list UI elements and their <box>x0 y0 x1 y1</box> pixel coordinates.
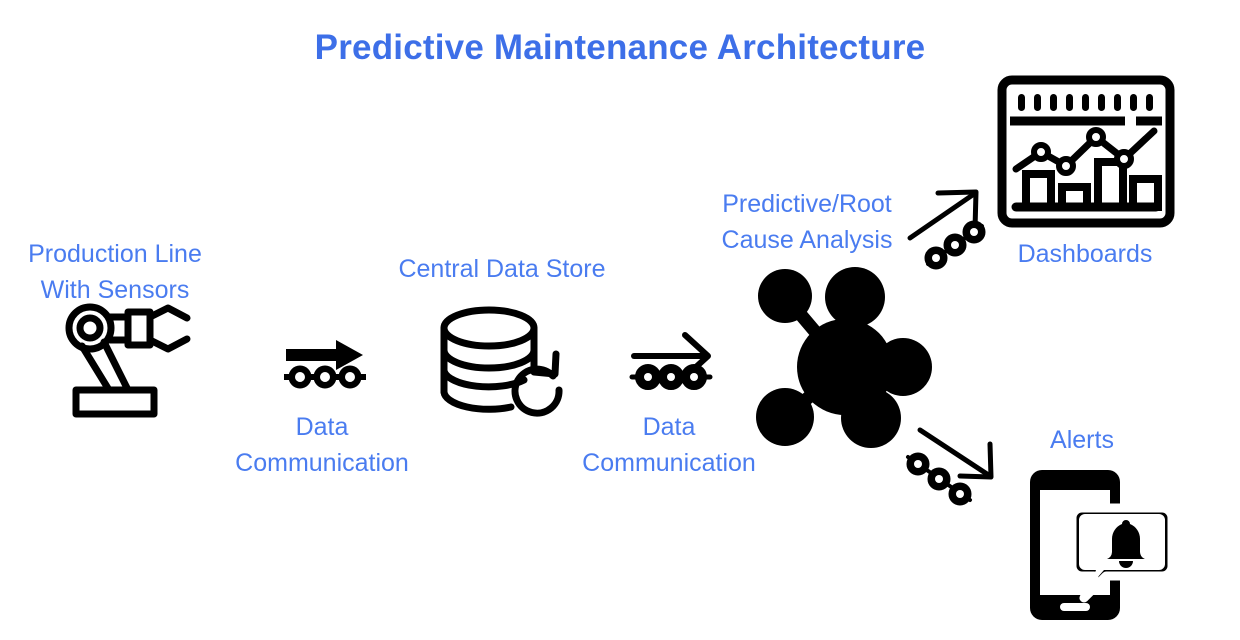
node-label-production-line: Production Line With Sensors <box>4 236 226 308</box>
diagram-canvas: Predictive Maintenance Architecture Prod… <box>0 0 1240 640</box>
database-sync-icon <box>437 300 577 420</box>
phone-alert-icon <box>1022 462 1182 632</box>
connector-data-communication-2 <box>624 322 724 392</box>
connector-analysis-to-alerts <box>898 428 1013 513</box>
connector-label-data-communication-1: Data Communication <box>222 409 422 481</box>
connector-data-communication-1 <box>278 322 378 392</box>
page-title: Predictive Maintenance Architecture <box>0 26 1240 70</box>
node-label-alerts: Alerts <box>1016 422 1148 458</box>
node-label-dashboards: Dashboards <box>994 236 1176 272</box>
node-label-analysis: Predictive/Root Cause Analysis <box>706 186 908 258</box>
network-hub-icon <box>752 268 942 448</box>
connector-label-data-communication-2: Data Communication <box>569 409 769 481</box>
robot-arm-icon <box>52 300 202 420</box>
dashboard-chart-icon <box>996 74 1176 229</box>
node-label-central-data-store: Central Data Store <box>396 251 608 287</box>
